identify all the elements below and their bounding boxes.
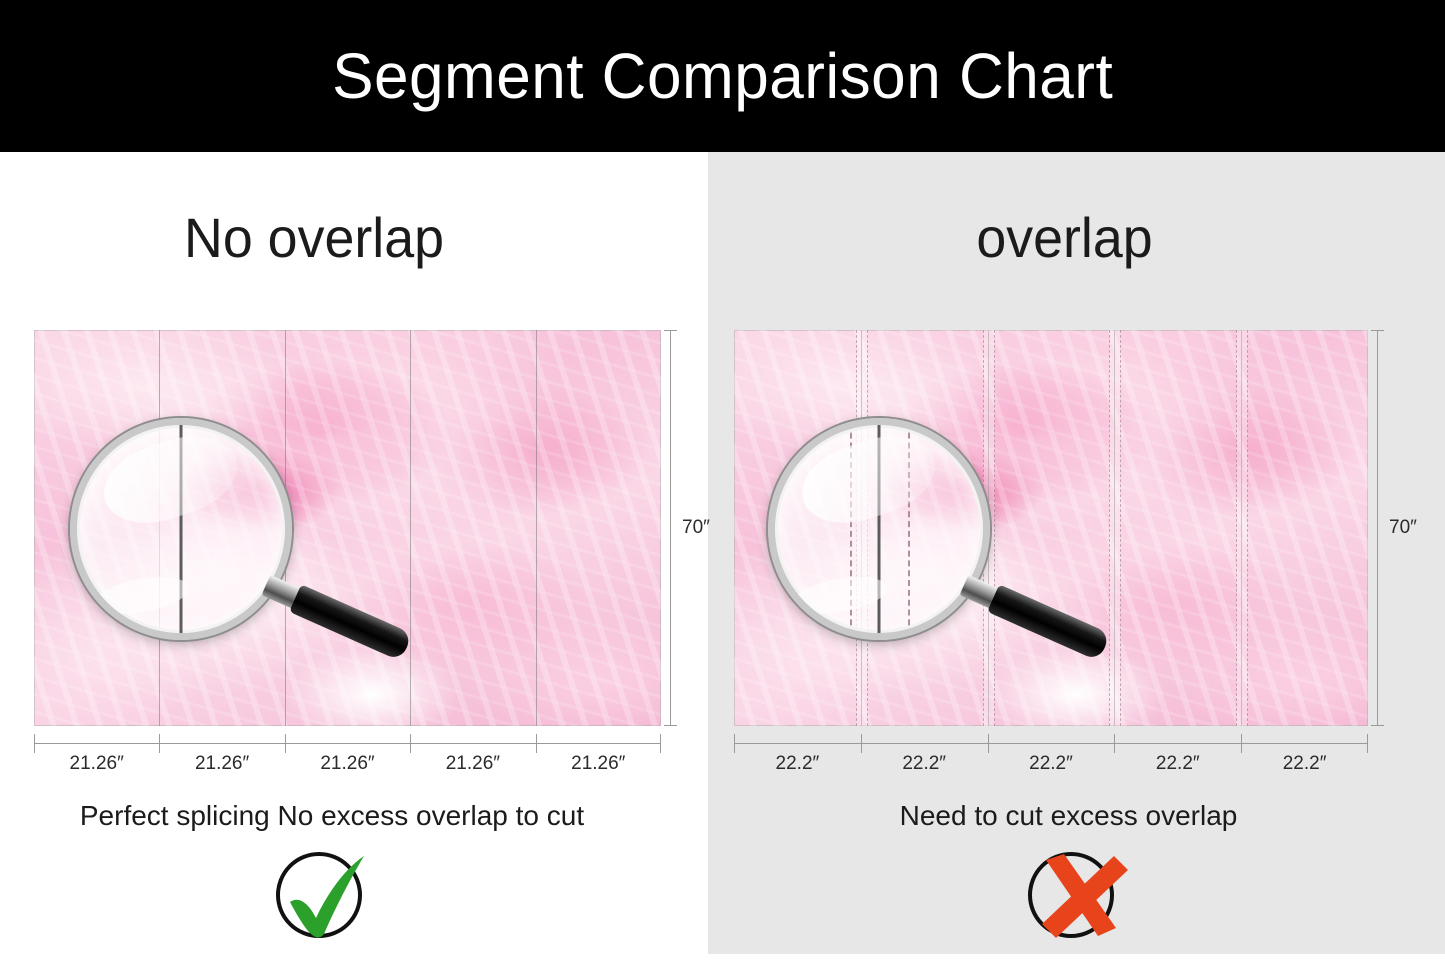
width-label: 22.2″: [1241, 753, 1368, 775]
caption-overlap: Need to cut excess overlap: [700, 800, 1437, 832]
width-segment: 22.2″: [988, 734, 1115, 778]
mural-image-overlap: [734, 330, 1368, 726]
width-segment: 21.26″: [285, 734, 410, 778]
check-icon: [268, 840, 388, 960]
mural-image-no-overlap: [34, 330, 661, 726]
dimension-line: [1377, 330, 1378, 726]
width-segment: 22.2″: [1241, 734, 1368, 778]
width-label: 22.2″: [734, 753, 861, 775]
mural-figure-overlap: [734, 330, 1368, 726]
dimension-tick: [660, 734, 661, 753]
dimension-tick: [536, 734, 537, 753]
dimension-cap-top: [664, 330, 677, 331]
dimension-tick: [861, 734, 862, 753]
height-dimension-label: 70″: [1389, 517, 1417, 539]
height-dimension-no-overlap: 70″: [664, 330, 724, 726]
dimension-tick: [1367, 734, 1368, 753]
width-label: 21.26″: [159, 753, 284, 775]
width-segment: 21.26″: [34, 734, 159, 778]
width-label: 22.2″: [1114, 753, 1241, 775]
width-label: 21.26″: [410, 753, 535, 775]
title-bar: Segment Comparison Chart: [0, 0, 1445, 152]
panel-overlap: overlap: [708, 152, 1445, 954]
width-label: 21.26″: [285, 753, 410, 775]
width-label: 21.26″: [34, 753, 159, 775]
width-label: 21.26″: [536, 753, 661, 775]
height-dimension-overlap: 70″: [1371, 330, 1431, 726]
dimension-tick: [1114, 734, 1115, 753]
dimension-tick: [285, 734, 286, 753]
width-dimensions-overlap: 22.2″ 22.2″ 22.2″ 22.2″ 22.2″: [734, 734, 1368, 778]
result-overlap: [702, 852, 1439, 938]
result-ring: [1028, 852, 1114, 938]
height-dimension-label: 70″: [682, 517, 710, 539]
dimension-line: [670, 330, 671, 726]
width-segment: 21.26″: [536, 734, 661, 778]
width-segment: 21.26″: [410, 734, 535, 778]
dimension-tick: [1241, 734, 1242, 753]
dimension-cap-bottom: [1371, 725, 1384, 726]
result-ring: [276, 852, 362, 938]
width-segment: 22.2″: [861, 734, 988, 778]
width-label: 22.2″: [988, 753, 1115, 775]
dimension-tick: [988, 734, 989, 753]
width-segment: 21.26″: [159, 734, 284, 778]
page-title: Segment Comparison Chart: [332, 39, 1113, 113]
comparison-chart-page: Segment Comparison Chart No overlap: [0, 0, 1445, 954]
panel-no-overlap: No overlap: [0, 152, 708, 954]
cross-icon: [1020, 840, 1140, 960]
panels-container: No overlap: [0, 152, 1445, 954]
mural-figure-no-overlap: [34, 330, 661, 726]
dimension-cap-bottom: [664, 725, 677, 726]
result-no-overlap: [0, 852, 673, 938]
dimension-tick: [159, 734, 160, 753]
dimension-tick: [34, 734, 35, 753]
panel-heading-no-overlap: No overlap: [0, 210, 654, 266]
dimension-tick: [410, 734, 411, 753]
caption-no-overlap: Perfect splicing No excess overlap to cu…: [0, 800, 686, 832]
panel-heading-overlap: overlap: [711, 210, 1419, 266]
dimension-cap-top: [1371, 330, 1384, 331]
width-dimensions-no-overlap: 21.26″ 21.26″ 21.26″ 21.26″ 21.26: [34, 734, 661, 778]
width-segment: 22.2″: [1114, 734, 1241, 778]
width-label: 22.2″: [861, 753, 988, 775]
width-segment: 22.2″: [734, 734, 861, 778]
dimension-tick: [734, 734, 735, 753]
